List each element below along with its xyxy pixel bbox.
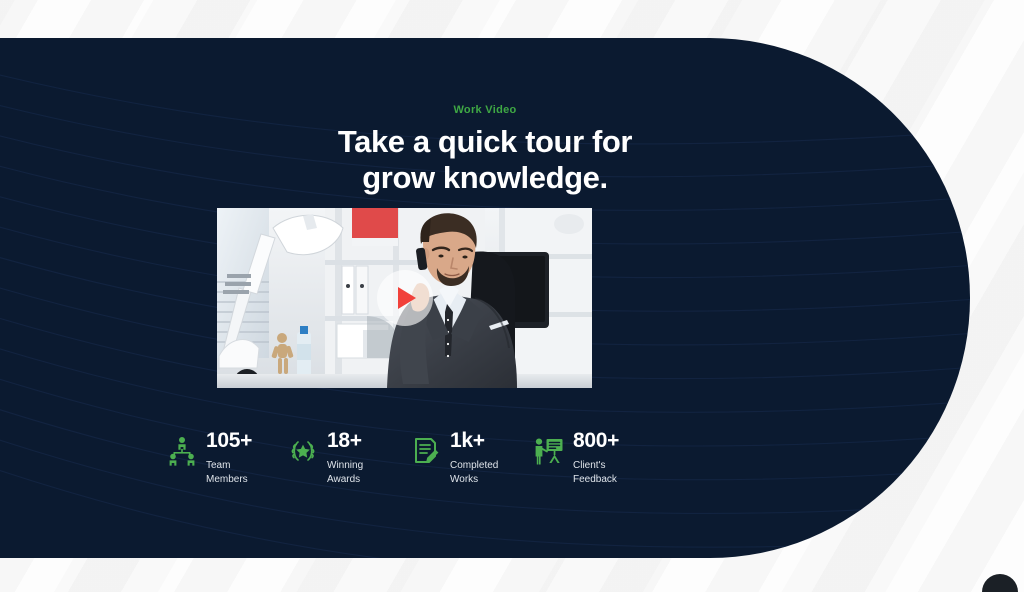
stat-text: 1k+ Completed Works [450, 430, 498, 487]
stat-label-line-2: Members [206, 474, 248, 485]
stat-label: Team Members [206, 459, 252, 487]
presenter-board-icon [534, 436, 564, 466]
team-group-icon [167, 436, 197, 466]
page-root: Work Video Take a quick tour for grow kn… [0, 0, 1024, 592]
stat-text: 105+ Team Members [206, 430, 252, 487]
stat-label: Client's Feedback [573, 459, 619, 487]
headline-line-1: Take a quick tour for [338, 124, 632, 159]
section-eyebrow: Work Video [0, 104, 970, 116]
page-title: Take a quick tour for grow knowledge. [0, 124, 970, 197]
stat-item-winning-awards: 18+ Winning Awards [288, 430, 411, 487]
stat-text: 18+ Winning Awards [327, 430, 363, 487]
stat-text: 800+ Client's Feedback [573, 430, 619, 487]
stat-value: 800+ [573, 430, 619, 451]
stat-value: 1k+ [450, 430, 498, 451]
stat-value: 18+ [327, 430, 363, 451]
stat-label-line-1: Team [206, 460, 230, 471]
stat-label-line-2: Awards [327, 474, 360, 485]
laurel-wreath-star-icon [288, 436, 318, 466]
headline-line-2: grow knowledge. [0, 160, 970, 196]
stat-label: Winning Awards [327, 459, 363, 487]
stat-label-line-1: Client's [573, 460, 605, 471]
stat-item-team-members: 105+ Team Members [167, 430, 288, 487]
play-button[interactable] [377, 270, 433, 326]
stat-label-line-2: Feedback [573, 474, 617, 485]
document-pencil-icon [411, 436, 441, 466]
play-triangle-icon [398, 287, 416, 309]
stat-value: 105+ [206, 430, 252, 451]
stat-item-completed-works: 1k+ Completed Works [411, 430, 534, 487]
stats-row: 105+ Team Members [167, 430, 687, 487]
stat-label: Completed Works [450, 459, 498, 487]
stat-label-line-2: Works [450, 474, 478, 485]
work-video-section: Work Video Take a quick tour for grow kn… [0, 38, 970, 558]
scroll-to-top-button[interactable] [982, 574, 1018, 592]
stat-label-line-1: Winning [327, 460, 363, 471]
stat-label-line-1: Completed [450, 460, 498, 471]
stat-item-client-feedback: 800+ Client's Feedback [534, 430, 674, 487]
video-thumbnail-card[interactable] [217, 208, 592, 388]
